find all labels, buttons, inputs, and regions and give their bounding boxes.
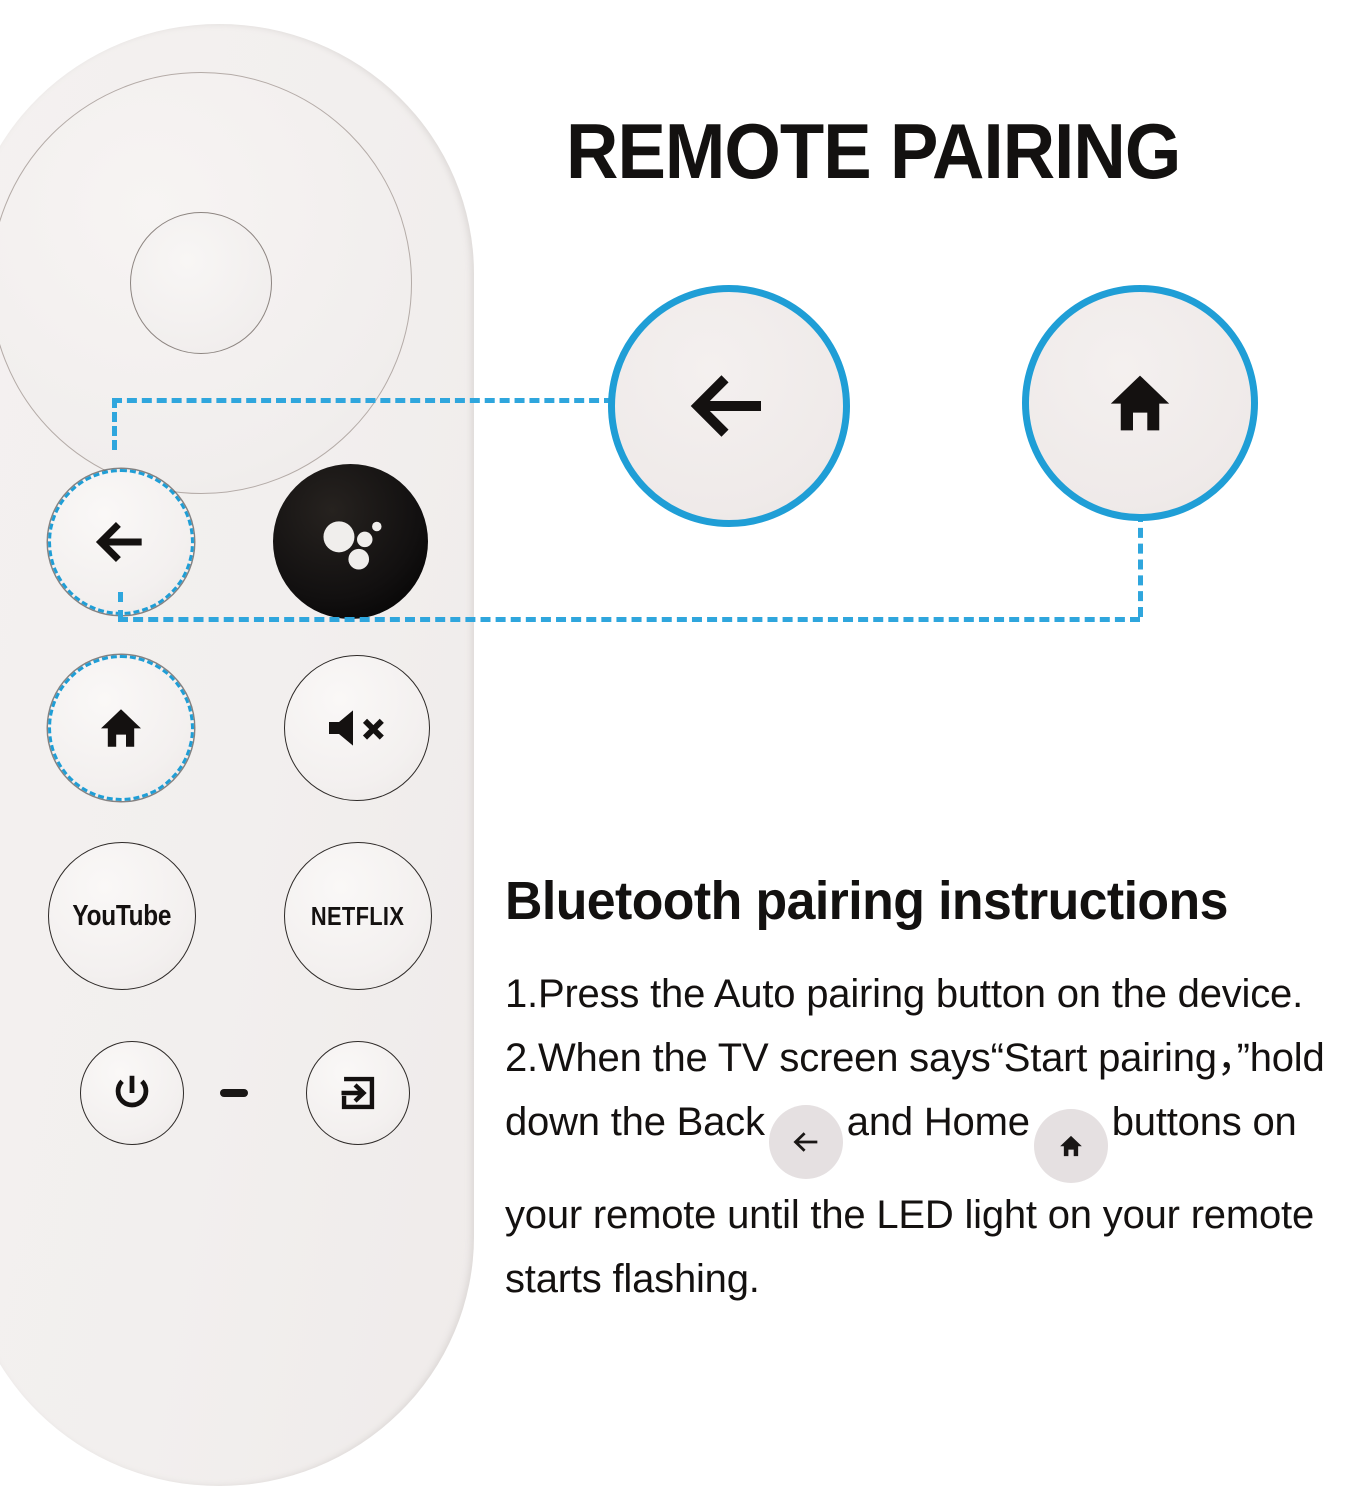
power-icon xyxy=(110,1071,154,1115)
input-source-icon xyxy=(336,1071,380,1115)
inline-back-button[interactable] xyxy=(769,1105,843,1179)
instruction-list: 1.Press the Auto pairing button on the d… xyxy=(505,962,1353,1311)
inline-home-button[interactable] xyxy=(1034,1109,1108,1183)
step2-line4: starts flashing. xyxy=(505,1257,760,1301)
mute-button[interactable] xyxy=(284,655,430,801)
volume-down-indicator[interactable] xyxy=(220,1089,248,1097)
back-callout-connector-horizontal xyxy=(112,398,614,403)
home-button-callout xyxy=(1022,285,1258,521)
select-button[interactable] xyxy=(130,212,272,354)
youtube-button[interactable]: YouTube xyxy=(48,842,196,990)
back-arrow-icon xyxy=(681,358,777,454)
remote-body: YouTube NETFLIX xyxy=(0,24,474,1486)
home-callout-connector-horizontal xyxy=(118,617,1140,622)
power-button[interactable] xyxy=(80,1041,184,1145)
home-icon xyxy=(97,704,145,752)
back-arrow-icon xyxy=(90,511,152,573)
back-arrow-icon xyxy=(789,1125,823,1159)
youtube-label: YouTube xyxy=(73,900,172,933)
home-callout-connector-vertical-right xyxy=(1138,512,1143,617)
step2-line1: 2.When the TV screen says“Start pairing，… xyxy=(505,1036,1325,1080)
step2-home-text: and Home xyxy=(847,1100,1030,1144)
page-title: REMOTE PAIRING xyxy=(566,112,1180,190)
back-button-callout xyxy=(608,285,850,527)
assistant-icon xyxy=(308,499,394,585)
step2-line3: your remote until the LED light on your … xyxy=(505,1193,1314,1237)
back-callout-connector-vertical xyxy=(112,398,117,450)
instruction-step-2: 2.When the TV screen says“Start pairing，… xyxy=(505,1026,1353,1311)
step2-buttons-text: buttons on xyxy=(1112,1100,1297,1144)
infographic-page: YouTube NETFLIX xyxy=(0,0,1356,1490)
mute-icon xyxy=(323,704,391,752)
netflix-button[interactable]: NETFLIX xyxy=(284,842,432,990)
instruction-step-1: 1.Press the Auto pairing button on the d… xyxy=(505,962,1353,1026)
netflix-label: NETFLIX xyxy=(311,901,404,932)
home-button[interactable] xyxy=(48,655,194,801)
home-icon xyxy=(1105,368,1175,438)
step2-back-text: down the Back xyxy=(505,1100,765,1144)
input-source-button[interactable] xyxy=(306,1041,410,1145)
section-subtitle: Bluetooth pairing instructions xyxy=(505,872,1228,930)
directional-pad[interactable] xyxy=(0,72,412,494)
home-callout-connector-vertical-left xyxy=(118,592,123,620)
assistant-button[interactable] xyxy=(273,464,428,619)
home-icon xyxy=(1058,1133,1084,1159)
